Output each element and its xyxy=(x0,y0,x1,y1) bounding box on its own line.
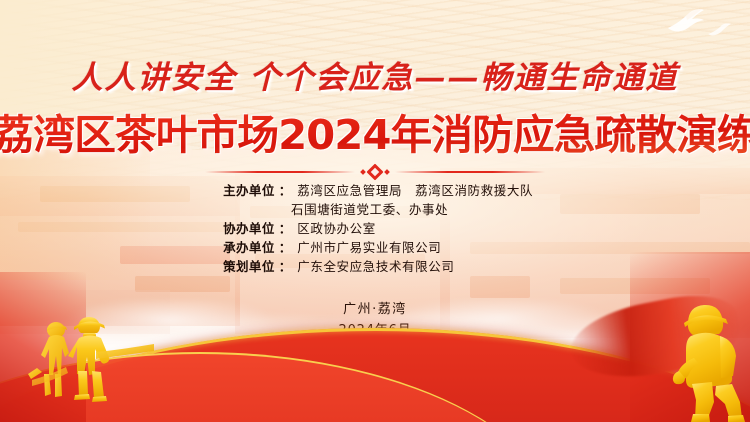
credit-value: 区政协办公室 xyxy=(297,219,547,238)
credit-colon: ： xyxy=(279,219,292,238)
credit-label: 主办单位 xyxy=(203,181,275,200)
divider-dot-left xyxy=(360,169,366,175)
poster-canvas: 人人讲安全 个个会应急——畅通生命通道 荔湾区茶叶市场2024年消防应急疏散演练… xyxy=(0,0,750,422)
firefighter-pair-with-hose-silhouette xyxy=(22,312,162,402)
divider-line-right xyxy=(395,171,545,173)
credit-row: 协办单位 ： 区政协办公室 xyxy=(0,219,750,238)
page-title: 荔湾区茶叶市场2024年消防应急疏散演练 xyxy=(0,101,750,161)
divider-dot-right xyxy=(384,169,390,175)
divider-line-left xyxy=(205,171,355,173)
credit-row: 石围塘街道党工委、办事处 xyxy=(0,200,750,219)
dove-large-icon xyxy=(662,6,710,41)
credit-colon: ： xyxy=(279,181,292,200)
credit-colon: ： xyxy=(279,257,292,276)
credit-label: 策划单位 xyxy=(203,257,275,276)
credit-value: 广东全安应急技术有限公司 xyxy=(297,257,547,276)
credit-row: 主办单位 ： 荔湾区应急管理局 荔湾区消防救援大队 xyxy=(0,181,750,200)
credit-value: 荔湾区应急管理局 荔湾区消防救援大队 xyxy=(297,181,547,200)
firefighter-kneeling-silhouette xyxy=(660,300,750,422)
credit-value: 广州市广易实业有限公司 xyxy=(297,238,547,257)
credit-label: 协办单位 xyxy=(203,219,275,238)
diamond-divider xyxy=(205,166,545,178)
credit-label: 承办单位 xyxy=(203,238,275,257)
dove-small-icon xyxy=(706,22,732,44)
credit-value: 石围塘街道党工委、办事处 xyxy=(291,200,541,219)
poster-slogan: 人人讲安全 个个会应急——畅通生命通道 xyxy=(0,52,750,97)
credit-colon: ： xyxy=(279,238,292,257)
